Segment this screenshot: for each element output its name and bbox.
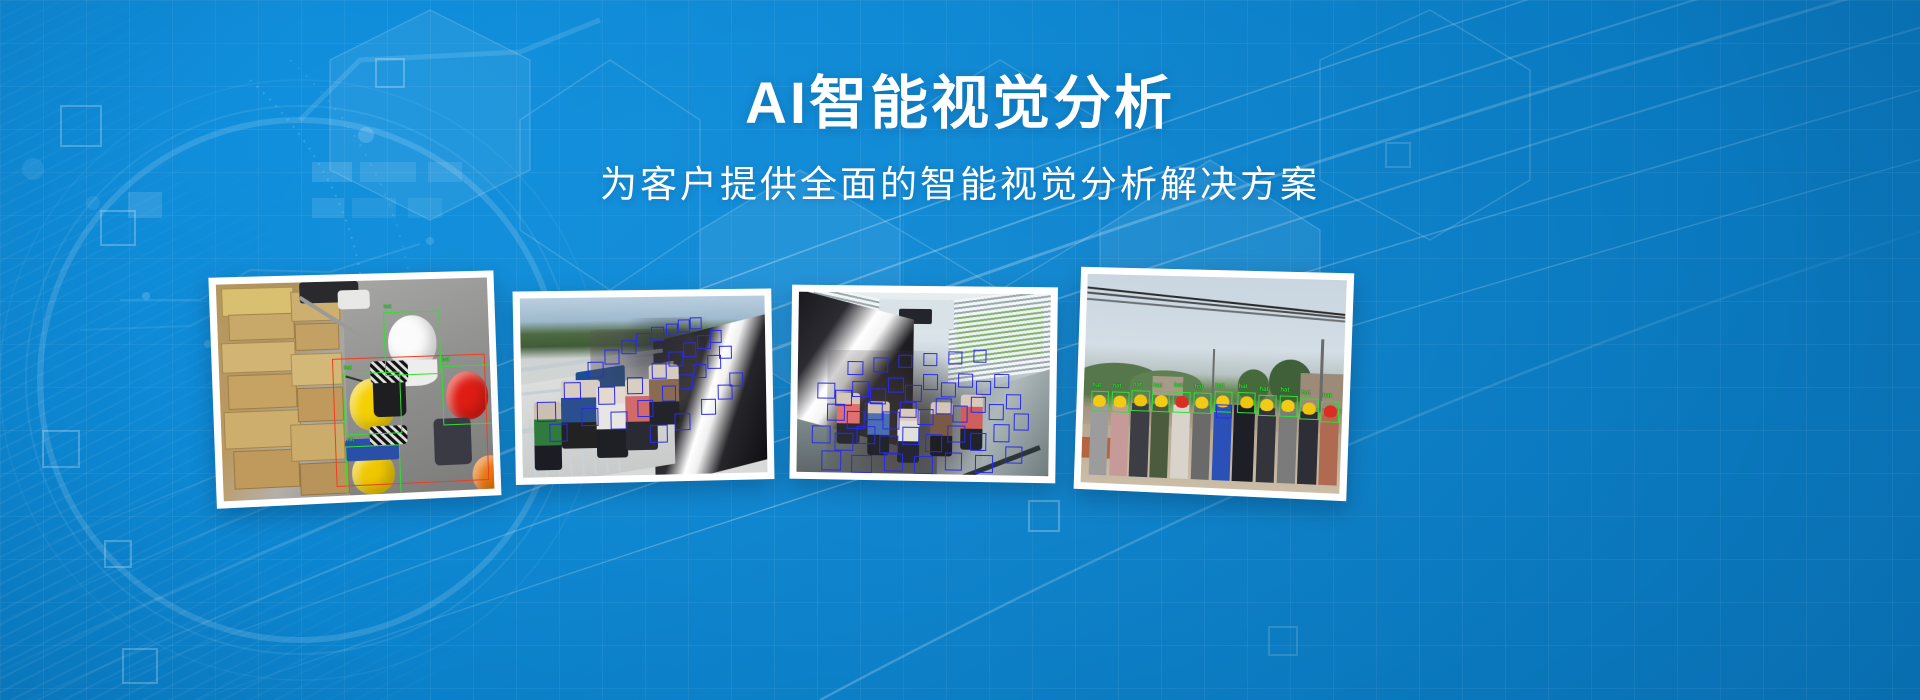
photo-2-scene [520, 296, 768, 478]
detection-label: hat [344, 366, 352, 371]
detection-label: hat [1215, 383, 1224, 389]
detection-label: hat [1153, 383, 1162, 389]
detection-box-helmet [441, 364, 493, 425]
photo-outdoor-hardhat-detection[interactable]: hat hat hat hat hat hat hat hat [1074, 267, 1355, 501]
detection-box-hat [1258, 395, 1277, 417]
detection-label: hat [1112, 383, 1121, 389]
detection-box-hat [1172, 392, 1191, 414]
detection-box-hat [1091, 391, 1109, 413]
ai-vision-banner: AI智能视觉分析 为客户提供全面的智能视觉分析解决方案 [0, 0, 1920, 700]
detection-box-helmet [343, 372, 402, 436]
detection-label: hat [1194, 384, 1203, 390]
power-cable [1087, 292, 1345, 319]
photo-strip: hat hat hat hat [0, 250, 1920, 540]
detection-label: hat [1280, 387, 1289, 393]
detection-label: hat [1133, 382, 1142, 388]
detection-label: hat [1174, 382, 1183, 388]
detection-box-hat [1111, 392, 1130, 414]
photo-4-scene: hat hat hat hat hat hat hat hat [1081, 274, 1347, 494]
photo-warehouse-helmet-detection[interactable]: hat hat hat hat [208, 270, 501, 508]
detection-box-hat [1237, 392, 1256, 414]
detection-box-hat [1321, 401, 1340, 423]
detection-label: hat [442, 358, 450, 363]
detection-label: hat [1322, 393, 1331, 399]
detection-box-face [1216, 404, 1232, 419]
detection-label: hat [1092, 382, 1101, 388]
detection-box-hat [1279, 395, 1298, 417]
page-title: AI智能视觉分析 [0, 72, 1920, 136]
photo-station-crowd-face-detection[interactable] [789, 285, 1058, 484]
photo-1-scene: hat hat hat hat [216, 278, 495, 502]
detection-label: hat [1301, 390, 1310, 396]
detection-label: hat [1239, 383, 1248, 389]
photo-3-scene [796, 292, 1050, 477]
detection-box-hat [1131, 390, 1150, 412]
detection-box-hat [1300, 398, 1319, 420]
detection-box-hat [1152, 391, 1171, 413]
page-subtitle: 为客户提供全面的智能视觉分析解决方案 [0, 162, 1920, 208]
detection-box-helmet [383, 311, 442, 377]
photo-bridge-crowd-face-detection[interactable] [513, 288, 775, 485]
detection-label: hat [384, 305, 392, 310]
detection-label: hat [1259, 386, 1268, 392]
banner-text-block: AI智能视觉分析 为客户提供全面的智能视觉分析解决方案 [0, 72, 1920, 208]
detection-box-hat [1193, 392, 1212, 414]
detection-box-helmet [346, 444, 402, 498]
detection-label: hat [347, 438, 355, 443]
